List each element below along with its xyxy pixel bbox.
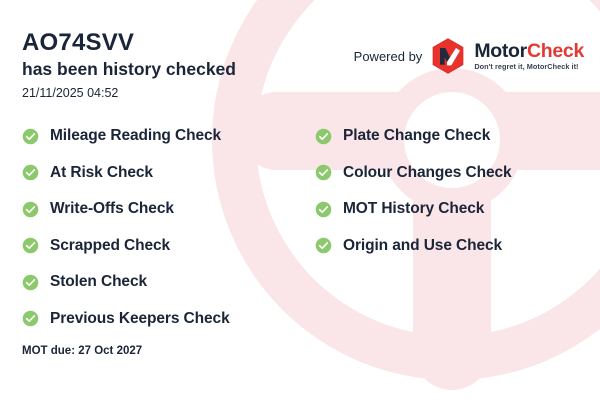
powered-by-block: Powered by MotorCheck Don't regret it, M… xyxy=(354,38,584,74)
registration-plate: AO74SVV xyxy=(22,30,236,57)
motorcheck-hexagon-m-icon xyxy=(431,38,465,74)
check-item-label: MOT History Check xyxy=(343,200,484,218)
check-circle-icon xyxy=(22,128,39,145)
check-item-stolen: Stolen Check xyxy=(22,264,315,301)
check-circle-icon xyxy=(315,201,332,218)
check-item-label: At Risk Check xyxy=(50,164,153,182)
check-circle-icon xyxy=(315,164,332,181)
check-item-write-offs: Write-Offs Check xyxy=(22,191,315,228)
check-item-label: Scrapped Check xyxy=(50,237,170,255)
checklist-left-column: Mileage Reading Check At Risk Check Writ… xyxy=(22,118,315,337)
check-circle-icon xyxy=(22,237,39,254)
check-item-label: Previous Keepers Check xyxy=(50,310,230,328)
check-item-label: Origin and Use Check xyxy=(343,237,502,255)
check-item-at-risk: At Risk Check xyxy=(22,155,315,192)
check-circle-icon xyxy=(315,237,332,254)
check-circle-icon xyxy=(22,310,39,327)
brand-name-motor: Motor xyxy=(474,40,527,62)
brand-tagline: Don't regret it, MotorCheck it! xyxy=(474,63,584,70)
powered-by-label: Powered by xyxy=(354,49,423,64)
mot-due-label: MOT due: 27 Oct 2027 xyxy=(22,345,142,357)
check-item-plate-change: Plate Change Check xyxy=(315,118,580,155)
history-checklist: Mileage Reading Check At Risk Check Writ… xyxy=(22,118,580,337)
check-circle-icon xyxy=(22,274,39,291)
header: AO74SVV has been history checked 21/11/2… xyxy=(22,30,236,100)
check-timestamp: 21/11/2025 04:52 xyxy=(22,86,236,100)
check-item-label: Mileage Reading Check xyxy=(50,127,221,145)
check-circle-icon xyxy=(22,164,39,181)
check-item-origin-and-use: Origin and Use Check xyxy=(315,228,580,265)
check-circle-icon xyxy=(315,128,332,145)
check-item-mot-history: MOT History Check xyxy=(315,191,580,228)
vehicle-history-check-card: AO74SVV has been history checked 21/11/2… xyxy=(0,0,600,400)
checklist-right-column: Plate Change Check Colour Changes Check … xyxy=(315,118,580,337)
check-item-colour-changes: Colour Changes Check xyxy=(315,155,580,192)
check-circle-icon xyxy=(22,201,39,218)
check-item-mileage-reading: Mileage Reading Check xyxy=(22,118,315,155)
check-item-previous-keepers: Previous Keepers Check xyxy=(22,301,315,338)
page-title: has been history checked xyxy=(22,59,236,81)
brand-name: MotorCheck xyxy=(474,42,584,62)
check-item-label: Colour Changes Check xyxy=(343,164,512,182)
check-item-label: Stolen Check xyxy=(50,273,147,291)
brand-name-check: Check xyxy=(527,40,584,62)
check-item-label: Write-Offs Check xyxy=(50,200,174,218)
check-item-scrapped: Scrapped Check xyxy=(22,228,315,265)
brand-wordmark: MotorCheck Don't regret it, MotorCheck i… xyxy=(474,42,584,71)
footer: MOT due: 27 Oct 2027 xyxy=(22,341,142,359)
check-item-label: Plate Change Check xyxy=(343,127,490,145)
